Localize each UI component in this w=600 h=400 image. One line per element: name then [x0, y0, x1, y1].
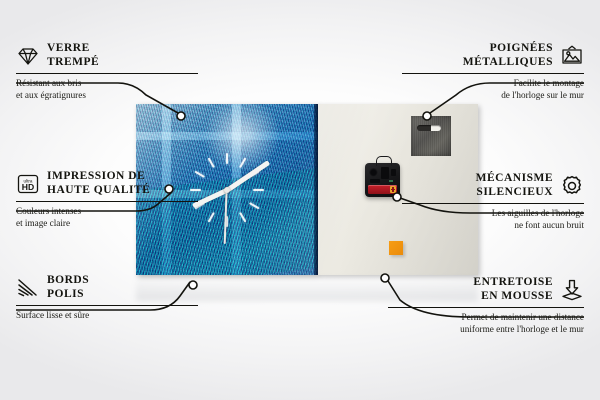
- callout-description: Les aiguilles de l'horloge ne font aucun…: [374, 204, 584, 232]
- callout-desc-line2: et image claire: [16, 217, 226, 229]
- callout-title-line1: POIGNÉES: [463, 42, 553, 56]
- callout-title-line2: HAUTE QUALITÉ: [47, 184, 150, 198]
- arrow-onto-pad-icon: [560, 278, 584, 302]
- callout-header: ultra HD IMPRESSION DE HAUTE QUALITÉ: [16, 170, 226, 201]
- callout-desc-line2: uniforme entre l'horloge et le mur: [360, 323, 584, 335]
- callout-desc-line2: ne font aucun bruit: [374, 219, 584, 231]
- callout-header: BORDS POLIS: [16, 274, 226, 305]
- hanging-picture-frame-icon: [560, 44, 584, 68]
- svg-text:HD: HD: [22, 182, 34, 192]
- callout-header: MÉCANISME SILENCIEUX: [374, 172, 584, 203]
- callout-title-line1: ENTRETOISE: [473, 276, 553, 290]
- callout-desc-line2: de l'horloge sur le mur: [374, 89, 584, 101]
- callout-metal-handles: POIGNÉES MÉTALLIQUES Facilite le montage…: [374, 42, 584, 102]
- ultra-hd-badge-icon: ultra HD: [16, 172, 40, 196]
- callout-print-quality: ultra HD IMPRESSION DE HAUTE QUALITÉ Cou…: [16, 170, 226, 230]
- callout-description: Facilite le montage de l'horloge sur le …: [374, 74, 584, 102]
- callout-desc-line2: et aux égratignures: [16, 89, 226, 101]
- callout-description: Résistant aux bris et aux égratignures: [16, 74, 226, 102]
- callout-description: Couleurs intenses et image claire: [16, 202, 226, 230]
- callout-title: ENTRETOISE EN MOUSSE: [473, 276, 553, 304]
- callout-foam-spacer: ENTRETOISE EN MOUSSE Permet de maintenir…: [360, 276, 584, 336]
- callout-header: ENTRETOISE EN MOUSSE: [360, 276, 584, 307]
- callout-title: VERRE TREMPÉ: [47, 42, 99, 70]
- polished-edge-lines-icon: [16, 276, 40, 300]
- callout-title-line2: EN MOUSSE: [473, 290, 553, 304]
- diamond-icon: [16, 44, 40, 68]
- metal-hanger-plate: [411, 116, 451, 156]
- hanger-loop: [376, 156, 392, 166]
- callout-title-line1: MÉCANISME: [476, 172, 553, 186]
- callout-title-line1: IMPRESSION DE: [47, 170, 150, 184]
- callout-description: Surface lisse et sûre: [16, 306, 226, 321]
- callout-title: IMPRESSION DE HAUTE QUALITÉ: [47, 170, 150, 198]
- gear-icon: [560, 174, 584, 198]
- callout-title-line2: SILENCIEUX: [476, 186, 553, 200]
- callout-desc-line1: Couleurs intenses: [16, 205, 226, 217]
- callout-desc-line1: Facilite le montage: [374, 77, 584, 89]
- callout-title: POIGNÉES MÉTALLIQUES: [463, 42, 553, 70]
- callout-desc-line1: Résistant aux bris: [16, 77, 226, 89]
- metal-grain: [411, 116, 451, 156]
- infographic-stage: VERRE TREMPÉ Résistant aux bris et aux é…: [0, 0, 600, 400]
- callout-title-line2: POLIS: [47, 288, 89, 302]
- callout-title: BORDS POLIS: [47, 274, 89, 302]
- callout-title-line1: BORDS: [47, 274, 89, 288]
- callout-polished-edges: BORDS POLIS Surface lisse et sûre: [16, 274, 226, 321]
- callout-description: Permet de maintenir une distance uniform…: [360, 308, 584, 336]
- callout-silent-mechanism: MÉCANISME SILENCIEUX Les aiguilles de l'…: [374, 172, 584, 232]
- callout-header: VERRE TREMPÉ: [16, 42, 226, 73]
- callout-tempered-glass: VERRE TREMPÉ Résistant aux bris et aux é…: [16, 42, 226, 102]
- callout-title-line2: TREMPÉ: [47, 56, 99, 70]
- callout-desc-line1: Surface lisse et sûre: [16, 309, 226, 321]
- foam-spacer: [389, 241, 403, 255]
- callout-header: POIGNÉES MÉTALLIQUES: [374, 42, 584, 73]
- callout-title-line2: MÉTALLIQUES: [463, 56, 553, 70]
- callout-desc-line1: Les aiguilles de l'horloge: [374, 207, 584, 219]
- callout-title: MÉCANISME SILENCIEUX: [476, 172, 553, 200]
- callout-desc-line1: Permet de maintenir une distance: [360, 311, 584, 323]
- keyhole-slot: [417, 125, 441, 131]
- callout-title-line1: VERRE: [47, 42, 99, 56]
